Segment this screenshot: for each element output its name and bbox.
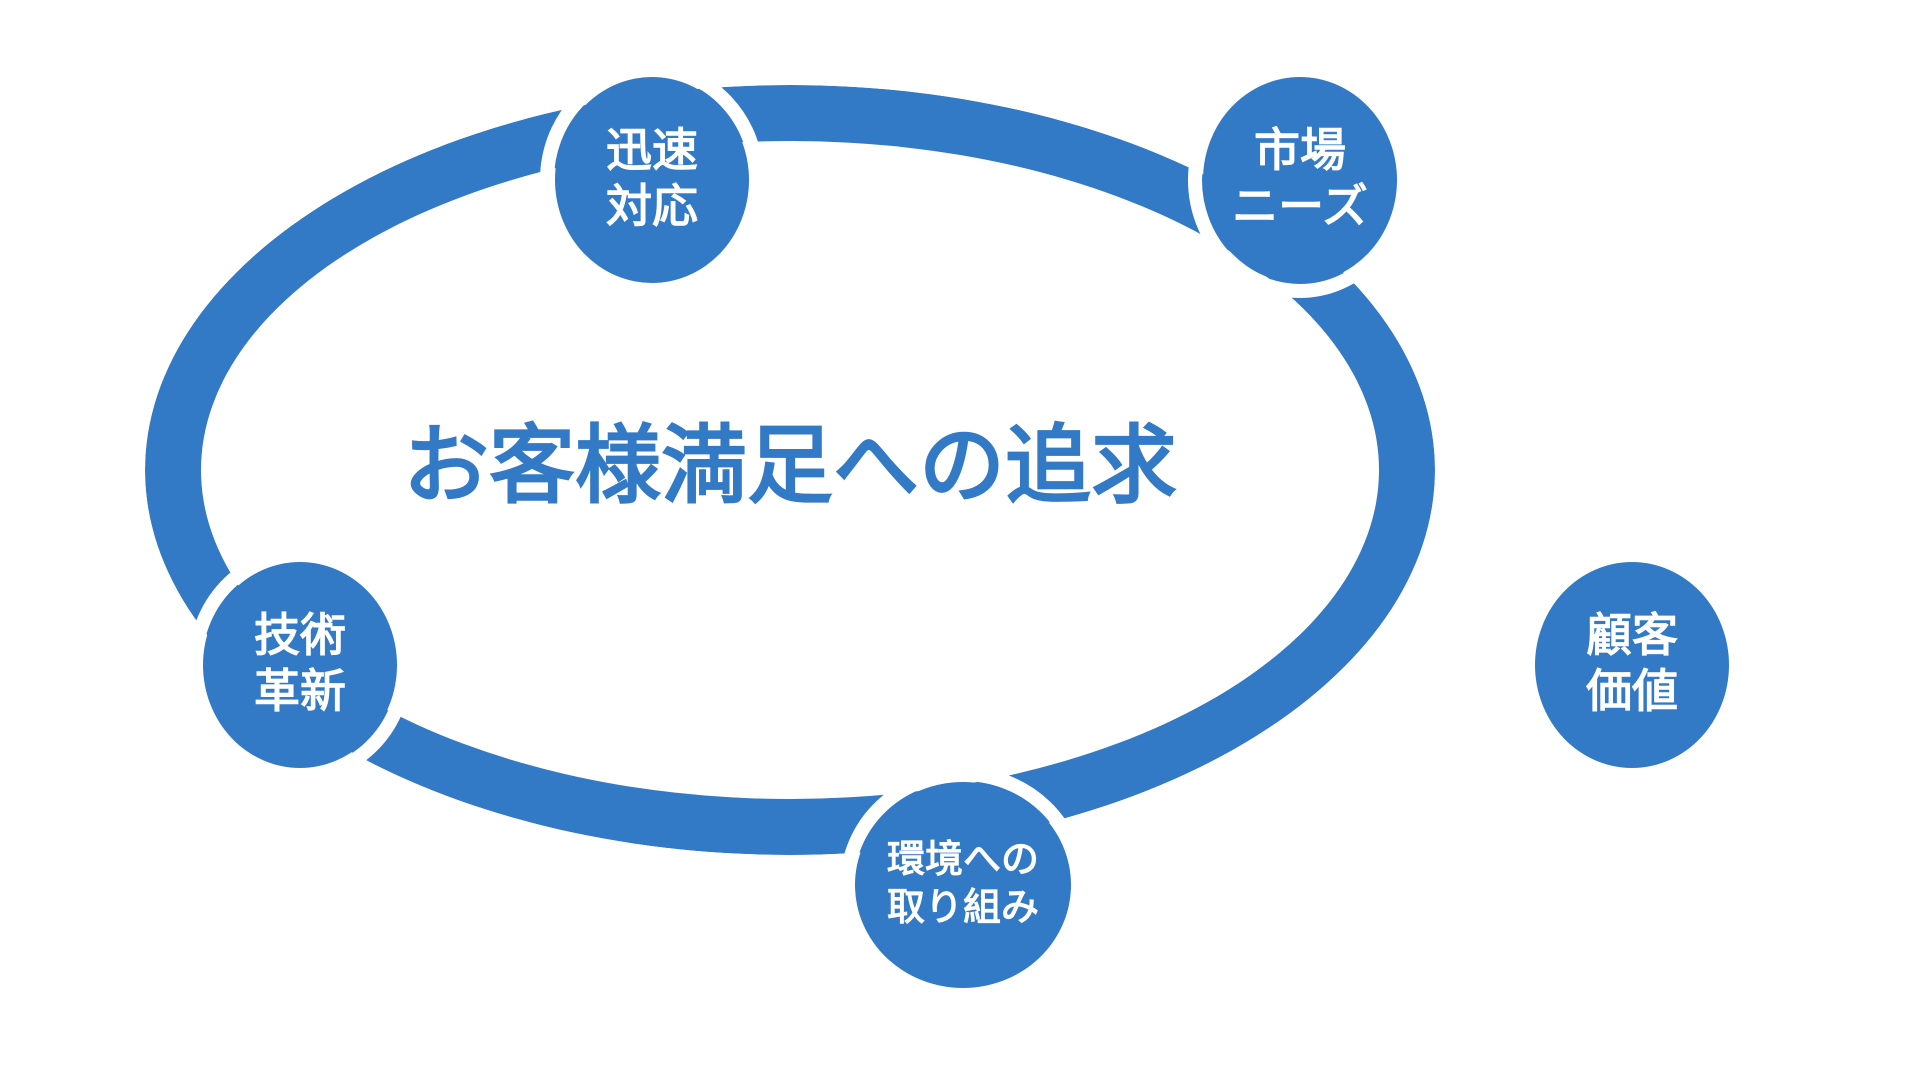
node-environment-effort[interactable] xyxy=(855,782,1071,988)
node-technology-innovation[interactable] xyxy=(203,562,397,768)
diagram-canvas: 迅速 対応 市場 ニーズ 顧客 価値 環境への 取り組み 技術 革新 お客様満足… xyxy=(0,0,1920,1080)
cycle-diagram-svg: 迅速 対応 市場 ニーズ 顧客 価値 環境への 取り組み 技術 革新 お客様満足… xyxy=(0,0,1920,1080)
node-speed-response[interactable] xyxy=(555,77,749,283)
node-market-needs[interactable] xyxy=(1203,77,1397,283)
node-customer-value[interactable] xyxy=(1535,562,1729,768)
